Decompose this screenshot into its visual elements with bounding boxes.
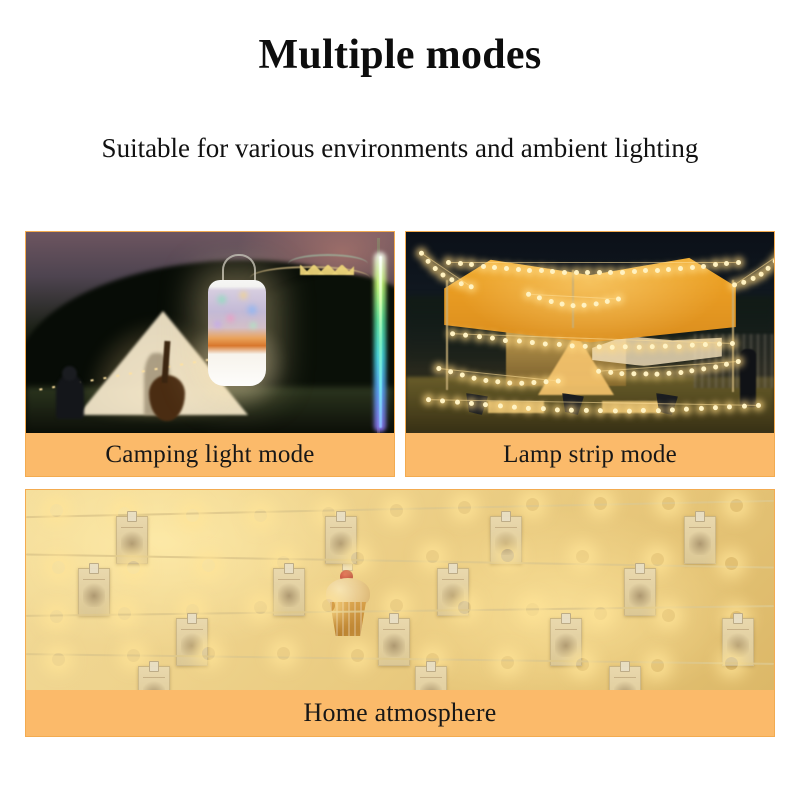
light-bulb-icon — [503, 337, 508, 342]
light-bulb-icon — [736, 260, 741, 265]
light-bulb-icon — [655, 408, 660, 413]
light-bulb-icon — [527, 268, 532, 273]
light-bulb-icon — [426, 397, 431, 402]
light-bulb-icon — [469, 262, 474, 267]
light-bulb-icon — [483, 377, 488, 382]
light-bulb-icon — [576, 550, 589, 563]
light-bulb-icon — [118, 607, 131, 620]
tarp-pole-left — [446, 280, 448, 390]
person-silhouette — [56, 375, 84, 419]
photo-card-artwork — [383, 629, 405, 657]
light-bulb-icon — [576, 658, 589, 671]
light-bulb-icon — [643, 371, 648, 376]
photo-card-artwork — [181, 629, 203, 657]
photo-card-artwork — [121, 527, 143, 555]
light-bulb-icon — [498, 403, 503, 408]
light-bulb-icon — [555, 407, 560, 412]
hanging-photo-card — [78, 568, 110, 616]
light-bulb-icon — [730, 499, 743, 512]
cupcake-base — [330, 602, 366, 636]
light-bulb-icon — [436, 366, 441, 371]
string-lights — [417, 250, 470, 289]
light-bulb-icon — [390, 599, 403, 612]
string-lights — [446, 260, 736, 266]
zigzag-light-icon — [300, 265, 354, 275]
light-bulb-icon — [507, 380, 512, 385]
light-bulb-icon — [724, 261, 729, 266]
card-camping-light-mode: Camping light mode — [25, 231, 395, 477]
light-bulb-icon — [351, 649, 364, 662]
light-bulb-icon — [254, 601, 267, 614]
light-bulb-icon — [570, 343, 575, 348]
light-bulb-icon — [698, 406, 703, 411]
light-bulb-icon — [202, 559, 215, 572]
light-bulb-icon — [418, 250, 425, 257]
hanging-photo-card — [550, 618, 582, 666]
light-bulb-icon — [676, 344, 681, 349]
light-bulb-icon — [458, 261, 463, 266]
hanging-photo-card — [138, 666, 170, 690]
light-bulb-icon — [463, 333, 468, 338]
light-bulb-icon — [446, 260, 451, 265]
photo-card-artwork — [420, 677, 442, 690]
light-bulb-icon — [651, 659, 664, 672]
light-bulb-icon — [632, 269, 637, 274]
light-bulb-icon — [455, 400, 460, 405]
mode-cards: Camping light mode — [25, 231, 775, 737]
photo-card-artwork — [629, 579, 651, 607]
light-bulb-icon — [50, 504, 63, 517]
card-lamp-strip-mode: Lamp strip mode — [405, 231, 775, 477]
caption-home-atmosphere: Home atmosphere — [26, 690, 774, 736]
photo-card-artwork — [727, 629, 749, 657]
light-bulb-icon — [52, 653, 65, 666]
lantern-rgb-diffuser — [210, 286, 264, 338]
light-bulb-icon — [662, 497, 675, 510]
light-bulb-icon — [50, 610, 63, 623]
light-bulb-icon — [594, 497, 607, 510]
light-bulb-icon — [584, 408, 589, 413]
light-bulb-icon — [741, 279, 748, 286]
light-bulb-icon — [758, 271, 765, 278]
light-bulb-icon — [541, 406, 546, 411]
light-bulb-icon — [426, 550, 439, 563]
photo-card-artwork — [555, 629, 577, 657]
light-bulb-icon — [501, 656, 514, 669]
light-bulb-icon — [725, 657, 738, 670]
tarp-pole-right — [732, 280, 734, 392]
hanging-photo-card — [273, 568, 305, 616]
light-bulb-icon — [765, 265, 772, 272]
light-bulb-icon — [596, 369, 601, 374]
light-bulb-icon — [519, 380, 524, 385]
light-bulb-icon — [666, 371, 671, 376]
light-bulb-icon — [186, 509, 199, 522]
light-bulb-icon — [526, 603, 539, 616]
light-bulb-icon — [127, 649, 140, 662]
hanging-photo-card — [609, 666, 641, 690]
photo-lamp-strip-mode — [406, 232, 774, 433]
light-bulb-icon — [562, 270, 567, 275]
light-bulb-icon — [655, 268, 660, 273]
light-bulb-icon — [471, 375, 476, 380]
light-bulb-icon — [594, 607, 607, 620]
light-bulb-icon — [390, 504, 403, 517]
light-bulb-icon — [678, 370, 683, 375]
photo-card-artwork — [689, 527, 711, 555]
photo-home-atmosphere — [26, 490, 774, 690]
light-bulb-icon — [516, 267, 521, 272]
light-bulb-icon — [526, 498, 539, 511]
light-bulb-icon — [481, 264, 486, 269]
light-bulb-icon — [351, 552, 364, 565]
light-bulb-icon — [526, 292, 531, 297]
light-bulb-icon — [277, 647, 290, 660]
photo-card-artwork — [278, 579, 300, 607]
photo-card-artwork — [614, 677, 636, 690]
light-bulb-icon — [678, 266, 683, 271]
light-bulb-icon — [713, 262, 718, 267]
light-bulb-icon — [202, 647, 215, 660]
light-bulb-icon — [254, 509, 267, 522]
light-bulb-icon — [127, 561, 140, 574]
light-bulb-icon — [756, 403, 761, 408]
page-subtitle: Suitable for various environments and am… — [0, 132, 800, 164]
caption-camping-light-mode: Camping light mode — [26, 433, 394, 476]
light-bulb-icon — [52, 561, 65, 574]
light-bulb-icon — [501, 549, 514, 562]
card-home-atmosphere: Home atmosphere — [25, 489, 775, 737]
photo-card-artwork — [330, 527, 352, 555]
light-bulb-icon — [749, 275, 756, 282]
hanging-photo-card — [415, 666, 447, 690]
light-bulb-icon — [574, 270, 579, 275]
light-bulb-icon — [504, 266, 509, 271]
top-card-row: Camping light mode — [25, 231, 775, 477]
light-bulb-icon — [458, 501, 471, 514]
person-silhouette — [740, 349, 756, 407]
light-bulb-icon — [690, 265, 695, 270]
light-bulb-icon — [432, 265, 439, 272]
light-bulb-icon — [716, 342, 721, 347]
hanging-photo-card — [176, 618, 208, 666]
light-bulb-icon — [655, 371, 660, 376]
light-bulb-icon — [725, 557, 738, 570]
photo-card-artwork — [83, 579, 105, 607]
light-bulb-icon — [450, 331, 455, 336]
light-bulb-icon — [448, 369, 453, 374]
photo-camping-light-mode — [26, 232, 394, 433]
photo-card-artwork — [143, 677, 165, 690]
light-bulb-icon — [597, 270, 602, 275]
caption-lamp-strip-mode: Lamp strip mode — [406, 433, 774, 476]
light-bulb-icon — [713, 364, 718, 369]
light-bulb-icon — [651, 553, 664, 566]
light-bulb-icon — [636, 345, 641, 350]
light-bulb-icon — [619, 370, 624, 375]
light-bulb-icon — [425, 258, 432, 265]
string-lights — [731, 253, 774, 289]
light-bulb-icon — [440, 398, 445, 403]
light-bulb-icon — [701, 264, 706, 269]
rgb-light-strip-core — [379, 256, 382, 428]
light-bulb-icon — [662, 609, 675, 622]
light-bulb-icon — [458, 601, 471, 614]
light-bulb-icon — [627, 408, 632, 413]
light-bulb-icon — [610, 344, 615, 349]
light-bulb-icon — [440, 271, 447, 278]
light-bulb-icon — [670, 407, 675, 412]
person-head — [62, 366, 77, 381]
light-bulb-icon — [612, 408, 617, 413]
light-bulb-icon — [585, 270, 590, 275]
light-bulb-icon — [631, 371, 636, 376]
hanging-photo-card — [684, 516, 716, 564]
light-bulb-icon — [596, 344, 601, 349]
light-bulb-icon — [620, 270, 625, 275]
page-title: Multiple modes — [0, 32, 800, 78]
light-bulb-icon — [771, 258, 774, 265]
marketing-image: Multiple modes Suitable for various envi… — [0, 0, 800, 800]
light-bulb-icon — [512, 404, 517, 409]
light-bulb-icon — [608, 370, 613, 375]
light-bulb-icon — [742, 404, 747, 409]
